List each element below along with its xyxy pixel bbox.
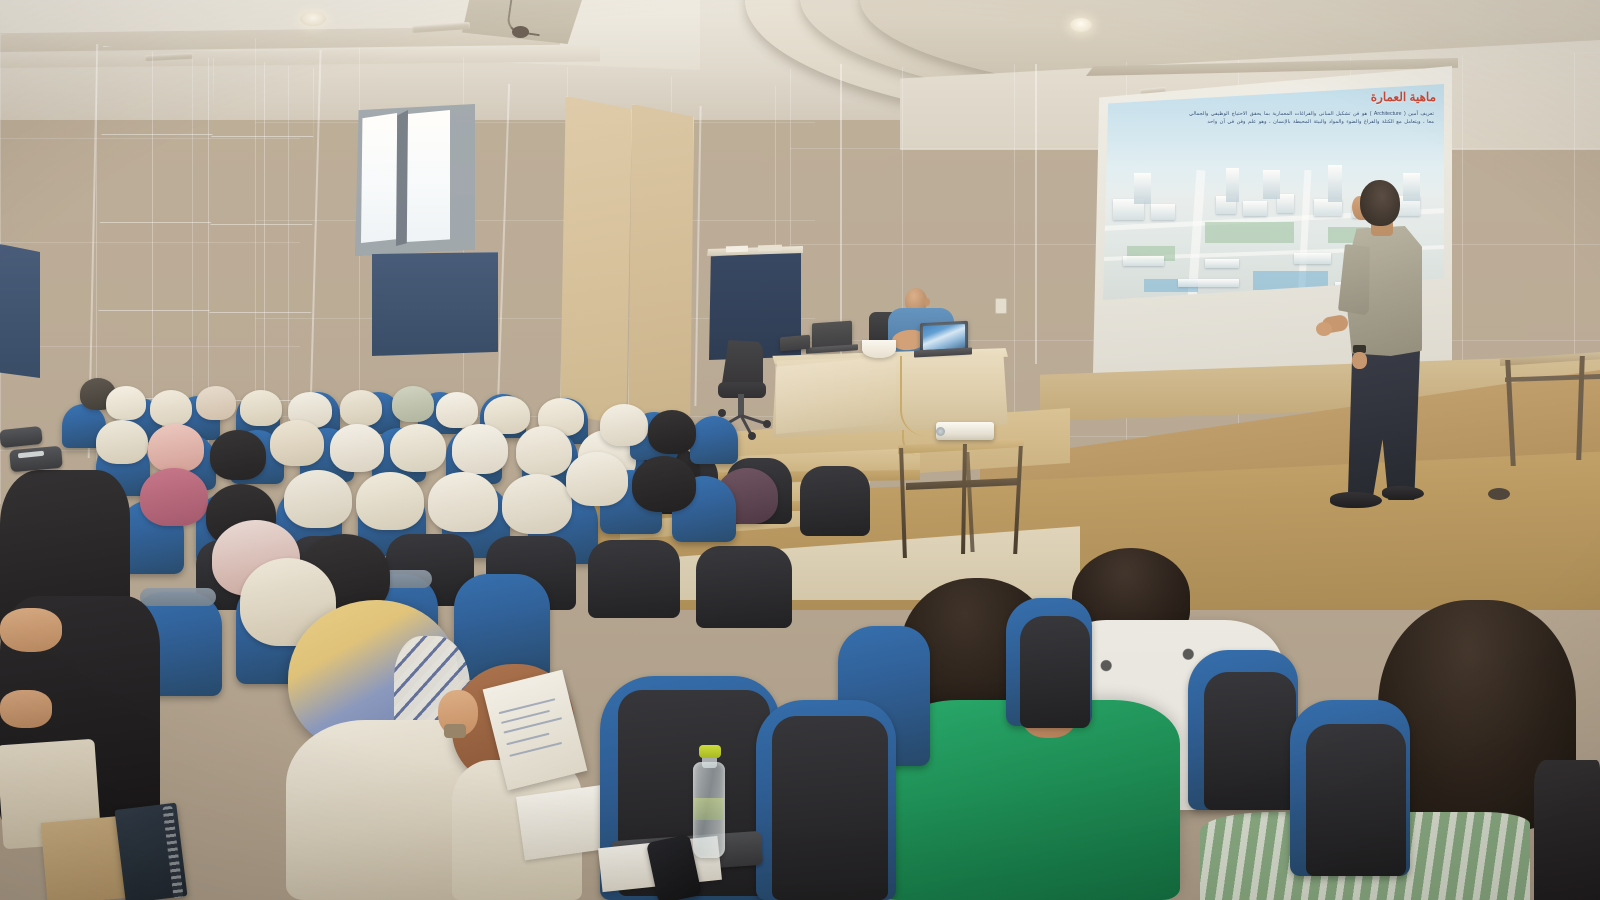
audience-head: [210, 430, 266, 480]
paper-on-board: [758, 245, 782, 252]
seat-cushion: [1204, 672, 1296, 810]
audience-head: [196, 386, 236, 420]
paper-on-board: [726, 246, 748, 253]
downlight-icon: [300, 12, 326, 26]
audience-head: [330, 424, 384, 472]
ceiling-fixture-knob: [512, 26, 529, 38]
audience-head: [150, 390, 192, 426]
audience-hand: [0, 690, 52, 728]
seat-cushion: [1020, 616, 1090, 728]
chair-caster: [763, 420, 771, 428]
slide-title: ماهية العمارة: [1371, 90, 1436, 104]
audience-head: [392, 386, 434, 422]
blue-wall-panel: [0, 244, 40, 378]
audience-head: [502, 474, 572, 534]
laptop-secondary[interactable]: [780, 335, 810, 352]
chair-caster: [748, 432, 756, 440]
presenter-hand: [1316, 322, 1332, 336]
lecture-hall-photo: ماهية العمارة تعريف أمين ( Architecture …: [0, 0, 1600, 900]
window-mullion: [396, 110, 408, 246]
laptop-screen: [923, 324, 965, 350]
slide-body-text: تعريف أمين ( Architecture ) هو فن تشكيل …: [1184, 110, 1434, 126]
window-pane: [361, 113, 397, 243]
presenter-shoe: [1330, 492, 1382, 508]
bottle-label: [694, 798, 724, 820]
audience-head: [356, 472, 424, 530]
audience-head: [140, 468, 208, 526]
acoustic-panel: [628, 104, 694, 426]
floor-object: [1488, 488, 1510, 500]
audience-head: [516, 426, 572, 476]
audience-head: [648, 410, 696, 454]
student-body-right: [1534, 760, 1600, 900]
presenter-head: [1360, 180, 1400, 226]
window-pane: [406, 110, 450, 242]
blue-wall-panel: [372, 252, 498, 356]
wall-seam: [1035, 64, 1037, 364]
seated-host-ear: [924, 298, 930, 306]
seat-tablet-arm[interactable]: [9, 446, 63, 472]
audience-head: [390, 424, 446, 472]
audience-head: [340, 390, 382, 426]
bottle-cap[interactable]: [699, 745, 721, 758]
audience-head: [428, 472, 498, 532]
acoustic-panel: [560, 96, 632, 426]
power-cable: [900, 356, 926, 436]
podium-highlight: [776, 356, 896, 434]
seat-cushion: [1306, 724, 1406, 876]
audience-head: [452, 424, 508, 474]
wrist-band: [444, 724, 466, 738]
audience-head: [106, 386, 146, 420]
downlight-icon: [1070, 18, 1092, 32]
audience-head: [436, 392, 478, 428]
audience-head: [284, 470, 352, 528]
audience-head: [270, 420, 324, 466]
audience-head: [632, 456, 696, 512]
audience-head: [240, 390, 282, 426]
wall-outlet[interactable]: [995, 298, 1007, 314]
presenter-shoe: [1382, 486, 1424, 500]
chair-post: [738, 394, 744, 416]
bowl: [862, 340, 896, 358]
audience-head: [96, 420, 148, 464]
projector-lens-icon: [936, 427, 945, 436]
wall-seam: [840, 64, 842, 364]
seat-cushion: [772, 716, 888, 900]
audience-head: [148, 424, 204, 472]
audience-head: [566, 452, 628, 506]
audience-head: [600, 404, 648, 446]
presenter-hand: [1352, 352, 1367, 369]
audience-hand: [0, 608, 62, 652]
